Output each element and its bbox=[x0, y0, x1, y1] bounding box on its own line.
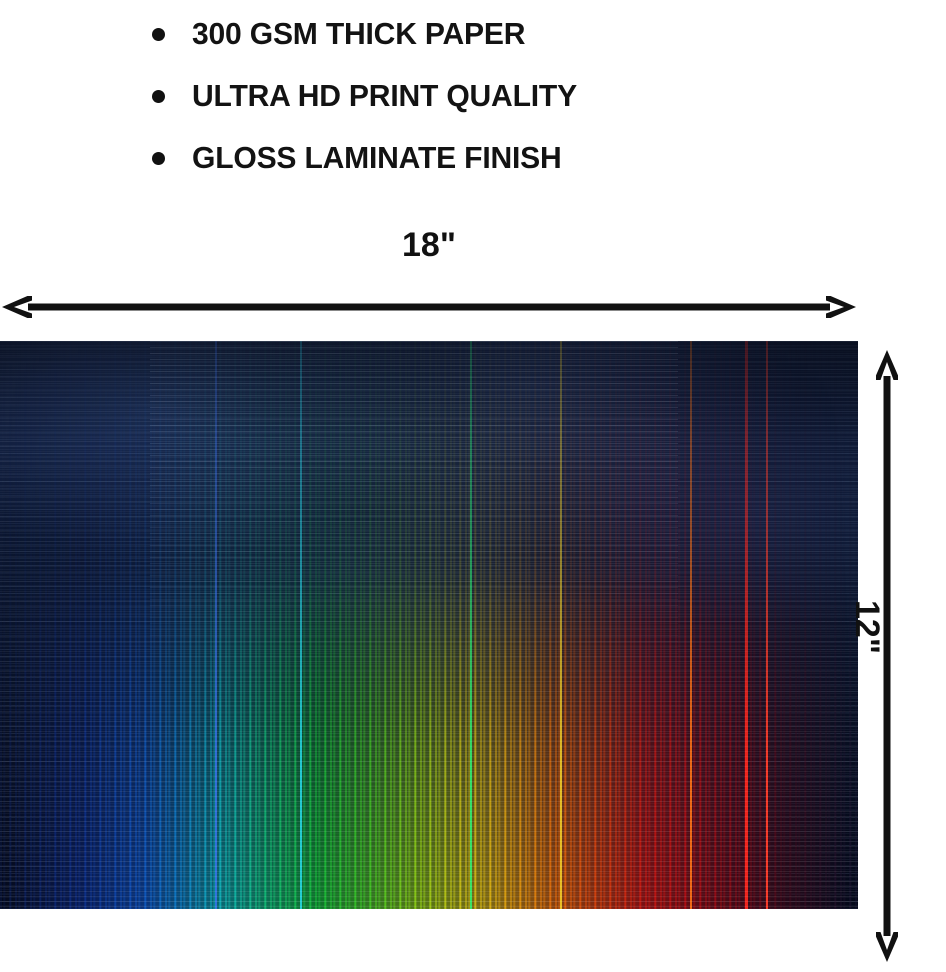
bullet-dot-icon bbox=[152, 152, 165, 165]
feature-list: 300 GSM THICK PAPER ULTRA HD PRINT QUALI… bbox=[0, 0, 946, 180]
feature-label: 300 GSM THICK PAPER bbox=[192, 18, 525, 49]
feature-label: GLOSS LAMINATE FINISH bbox=[192, 142, 562, 173]
bullet-dot-icon bbox=[152, 28, 165, 41]
list-item: GLOSS LAMINATE FINISH bbox=[0, 126, 946, 188]
bullet-dot-icon bbox=[152, 90, 165, 103]
height-dimension-label: 12" bbox=[847, 600, 886, 654]
width-dimension-label: 18" bbox=[0, 226, 858, 265]
feature-label: ULTRA HD PRINT QUALITY bbox=[192, 80, 577, 111]
poster-artwork-image bbox=[0, 341, 858, 909]
list-item: ULTRA HD PRINT QUALITY bbox=[0, 64, 946, 126]
list-item: 300 GSM THICK PAPER bbox=[0, 2, 946, 64]
product-listing-canvas: 300 GSM THICK PAPER ULTRA HD PRINT QUALI… bbox=[0, 0, 946, 972]
double-arrow-vertical-icon bbox=[876, 350, 898, 962]
double-arrow-horizontal-icon bbox=[2, 296, 856, 318]
artwork-vignette-layer bbox=[0, 341, 858, 909]
